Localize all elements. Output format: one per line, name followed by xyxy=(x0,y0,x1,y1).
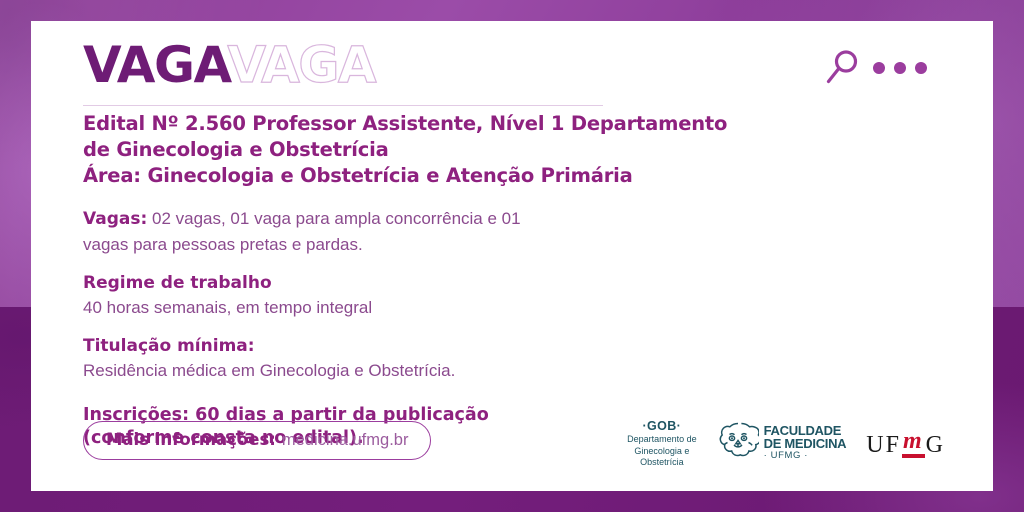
vaga-wordmark-solid: VAGA xyxy=(83,36,227,94)
more-info-url[interactable]: medicina.ufmg.br xyxy=(282,430,409,450)
titulacao-label: Titulação mínima: xyxy=(83,334,803,358)
header-icons xyxy=(825,49,927,85)
ufmg-letter-m: m xyxy=(902,429,925,458)
more-dots-icon[interactable] xyxy=(873,62,927,74)
section-vagas: Vagas: 02 vagas, 01 vaga para ampla conc… xyxy=(83,206,803,257)
ufmg-letter-f: F xyxy=(886,432,901,458)
gob-logo-title: ·GOB· xyxy=(627,419,697,434)
faculdade-line-3: · UFMG · xyxy=(764,450,847,463)
regime-text: 40 horas semanais, em tempo integral xyxy=(83,295,803,320)
ufmg-letter-g: G xyxy=(926,432,945,458)
lion-head-icon xyxy=(717,420,759,467)
poster-canvas: VAGAVAGA xyxy=(0,0,1024,512)
content-card: VAGAVAGA xyxy=(31,21,993,491)
header-row: VAGAVAGA xyxy=(83,37,963,99)
partner-logos: ·GOB· Departamento de Ginecologia e Obst… xyxy=(627,419,945,469)
header-divider xyxy=(83,105,603,106)
more-info-pill[interactable]: Mais informações: medicina.ufmg.br xyxy=(83,421,431,460)
vagas-text-line-2: vagas para pessoas pretas e pardas. xyxy=(83,232,803,257)
section-regime: Regime de trabalho 40 horas semanais, em… xyxy=(83,271,803,320)
title-line-1: Edital Nº 2.560 Professor Assistente, Ní… xyxy=(83,111,903,137)
vaga-wordmark-outline: VAGA xyxy=(227,36,375,94)
vagas-first-line: Vagas: 02 vagas, 01 vaga para ampla conc… xyxy=(83,206,803,232)
gob-logo-line-1: Departamento de xyxy=(627,434,697,446)
title-line-2: de Ginecologia e Obstetrícia xyxy=(83,137,903,163)
section-titulacao: Titulação mínima: Residência médica em G… xyxy=(83,334,803,383)
dot-3 xyxy=(915,62,927,74)
card-inner: VAGAVAGA xyxy=(83,21,969,491)
more-info-label: Mais informações: xyxy=(106,430,276,450)
regime-label: Regime de trabalho xyxy=(83,271,803,295)
titulacao-text: Residência médica em Ginecologia e Obste… xyxy=(83,358,803,383)
page-title: Edital Nº 2.560 Professor Assistente, Ní… xyxy=(83,111,903,189)
dot-2 xyxy=(894,62,906,74)
gob-logo: ·GOB· Departamento de Ginecologia e Obst… xyxy=(627,419,697,469)
dot-1 xyxy=(873,62,885,74)
faculdade-medicina-text: FACULDADE DE MEDICINA · UFMG · xyxy=(764,425,847,463)
vagas-text-line-1: 02 vagas, 01 vaga para ampla concorrênci… xyxy=(147,209,520,228)
vaga-wordmark: VAGAVAGA xyxy=(83,37,375,93)
ufmg-letter-u: U xyxy=(866,432,885,458)
title-line-3: Área: Ginecologia e Obstetrícia e Atençã… xyxy=(83,163,903,189)
gob-logo-line-2: Ginecologia e xyxy=(627,446,697,458)
ufmg-logo: U F m G xyxy=(866,429,945,458)
gob-logo-line-3: Obstetrícia xyxy=(627,457,697,469)
faculdade-line-2: DE MEDICINA xyxy=(764,438,847,451)
faculdade-medicina-logo: FACULDADE DE MEDICINA · UFMG · xyxy=(717,420,847,467)
search-icon[interactable] xyxy=(825,49,859,85)
vagas-label: Vagas: xyxy=(83,209,147,229)
